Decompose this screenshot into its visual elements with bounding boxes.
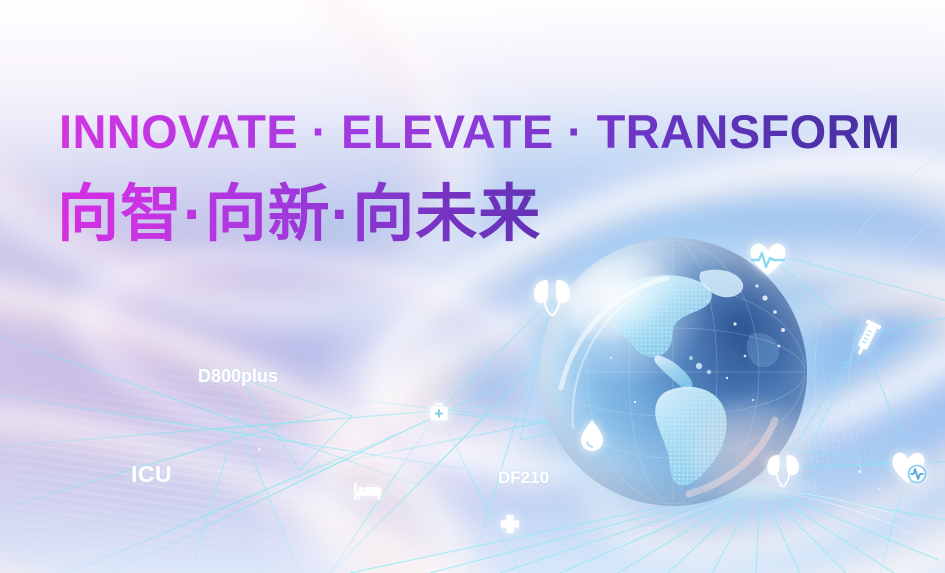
sparkle-speck [415,470,417,472]
globe-rim-highlight [539,238,807,506]
water-drop-icon [578,418,606,452]
syringe-icon [850,318,884,358]
sparkle-speck [858,470,861,473]
sparkle-speck [706,300,708,302]
medical-bag-icon [428,402,450,424]
globe-warm-reflection [678,393,817,511]
headline-english: INNOVATE · ELEVATE · TRANSFORM [59,104,900,159]
wave-texture [0,272,514,573]
light-streak [0,307,585,573]
product-label-icu: ICU [131,461,172,488]
heart-ecg-icon [890,450,930,486]
sparkle-speck [318,416,320,418]
kidneys-icon [528,272,576,320]
kidneys-icon [762,448,804,490]
halftone-dot-texture [586,296,945,564]
promotional-banner: INNOVATE · ELEVATE · TRANSFORM 向智·向新·向未来… [0,0,945,573]
heart-pulse-icon [748,240,788,278]
hospital-bed-icon [353,480,383,502]
globe-outer-glow [487,186,859,558]
headline-chinese: 向智·向新·向未来 [57,163,541,253]
sparkle-speck [258,448,261,451]
product-label-df210: DF210 [498,468,549,488]
globe-specular-highlight [555,241,689,358]
sparkle-speck [648,527,650,529]
light-streak [534,211,945,573]
sparkle-speck [878,488,880,490]
globe-americas [539,238,807,506]
medical-cross-icon [499,513,521,535]
globe-continents [539,238,807,506]
globe-sphere [539,238,807,506]
product-label-d800plus: D800plus [198,366,278,387]
